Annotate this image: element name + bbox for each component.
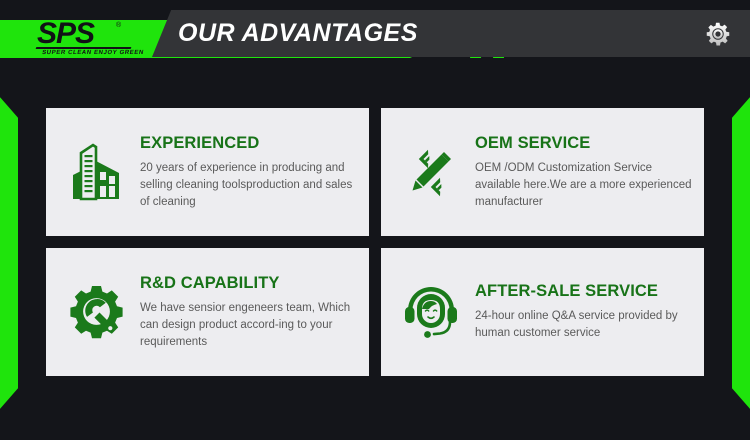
card-title: AFTER-SALE SERVICE [475, 282, 694, 301]
page-header: OUR ADVANTAGES SPS ® SUPER CLEAN ENJOY G… [0, 0, 750, 78]
advantage-card-grid: EXPERIENCED 20 years of experience in pr… [46, 108, 704, 376]
card-icon-slot [395, 276, 467, 348]
advantages-page: OUR ADVANTAGES SPS ® SUPER CLEAN ENJOY G… [0, 0, 750, 440]
card-title: R&D CAPABILITY [140, 274, 359, 293]
settings-button[interactable] [698, 14, 738, 54]
card-description: 20 years of experience in producing and … [140, 160, 359, 211]
building-icon [67, 141, 125, 203]
card-icon-slot [60, 136, 132, 208]
card-title: EXPERIENCED [140, 134, 359, 153]
left-accent-bar [0, 88, 18, 418]
logo-registered-mark: ® [116, 22, 121, 29]
card-description: We have sensior engeneers team, Which ca… [140, 300, 359, 351]
card-body: AFTER-SALE SERVICE 24-hour online Q&A se… [467, 282, 694, 342]
card-icon-slot [395, 136, 467, 208]
pencil-ruler-icon [403, 144, 459, 200]
advantage-card[interactable]: OEM SERVICE OEM /ODM Customization Servi… [381, 108, 704, 236]
card-body: EXPERIENCED 20 years of experience in pr… [132, 134, 359, 211]
page-title: OUR ADVANTAGES [178, 19, 418, 48]
card-description: 24-hour online Q&A service provided by h… [475, 308, 694, 342]
advantage-card[interactable]: EXPERIENCED 20 years of experience in pr… [46, 108, 369, 236]
brand-logo[interactable]: SPS ® SUPER CLEAN ENJOY GREEN [30, 22, 140, 58]
card-body: R&D CAPABILITY We have sensior engeneers… [132, 274, 359, 351]
right-accent-bar [732, 88, 750, 418]
gear-icon [703, 19, 733, 49]
advantage-card[interactable]: AFTER-SALE SERVICE 24-hour online Q&A se… [381, 248, 704, 376]
card-description: OEM /ODM Customization Service available… [475, 160, 694, 211]
advantage-card[interactable]: R&D CAPABILITY We have sensior engeneers… [46, 248, 369, 376]
headset-support-icon [401, 282, 461, 342]
logo-tagline: SUPER CLEAN ENJOY GREEN [41, 50, 144, 56]
gear-wrench-icon [66, 283, 126, 341]
logo-wordmark: SPS [37, 19, 94, 49]
card-title: OEM SERVICE [475, 134, 694, 153]
card-body: OEM SERVICE OEM /ODM Customization Servi… [467, 134, 694, 211]
card-icon-slot [60, 276, 132, 348]
logo-underline [36, 47, 132, 49]
